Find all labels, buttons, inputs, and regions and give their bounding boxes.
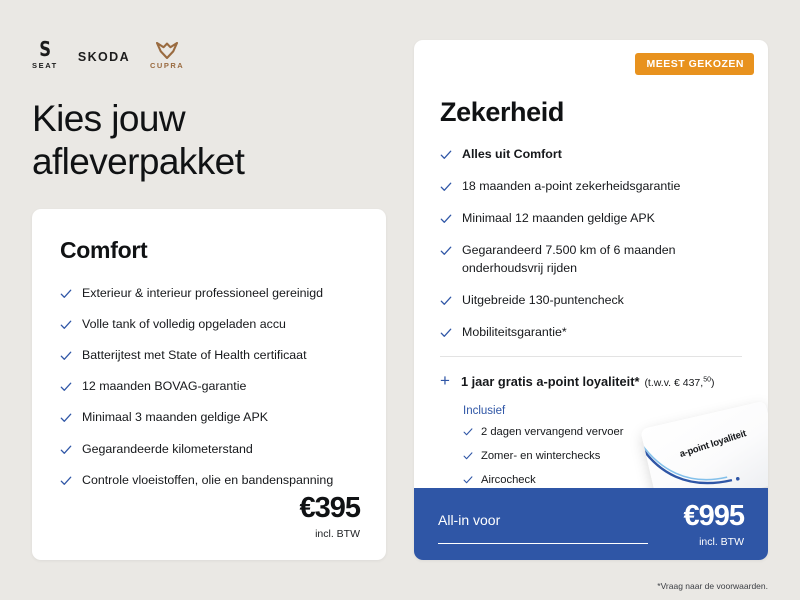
seat-mark-icon: S xyxy=(39,39,50,59)
cupra-mark-icon xyxy=(156,42,178,59)
seat-wordmark: SEAT xyxy=(32,61,58,70)
check-icon xyxy=(440,181,452,193)
page-title: Kies jouw afleverpakket xyxy=(32,97,372,184)
zekerheid-body: Alles uit Comfort18 maanden a-point zeke… xyxy=(440,146,748,522)
loyalty-value-cents: 50 xyxy=(703,377,711,384)
check-icon xyxy=(60,412,72,424)
skoda-logo: SKODA xyxy=(78,50,130,70)
check-icon xyxy=(463,475,473,485)
check-icon xyxy=(60,381,72,393)
loyalty-value-suffix: ) xyxy=(711,377,715,389)
cupra-wordmark: CUPRA xyxy=(150,61,184,70)
check-icon xyxy=(60,288,72,300)
comfort-title: Comfort xyxy=(60,237,358,264)
loyalty-label: 1 jaar gratis a-point loyaliteit* xyxy=(461,374,640,389)
loyalty-offer-row: + 1 jaar gratis a-point loyaliteit*(t.w.… xyxy=(440,371,748,391)
seat-logo: S SEAT xyxy=(32,39,58,70)
check-icon xyxy=(440,327,452,339)
list-item-label: Exterieur & interieur professioneel gere… xyxy=(82,285,323,303)
check-icon xyxy=(463,427,473,437)
allin-label: All-in voor xyxy=(438,512,500,528)
comfort-price-block: €395 incl. BTW xyxy=(299,494,360,540)
check-icon xyxy=(60,319,72,331)
divider xyxy=(440,356,742,357)
comfort-package-card[interactable]: Comfort Exterieur & interieur profession… xyxy=(32,209,386,560)
list-item-label: 18 maanden a-point zekerheidsgarantie xyxy=(462,178,680,196)
allin-price-note: incl. BTW xyxy=(699,536,744,548)
list-item-label: Volle tank of volledig opgeladen accu xyxy=(82,316,286,334)
zekerheid-feature-list: Alles uit Comfort18 maanden a-point zeke… xyxy=(440,146,748,342)
list-item: 2 dagen vervangend vervoer xyxy=(463,425,748,440)
list-item-label: 12 maanden BOVAG-garantie xyxy=(82,378,246,396)
list-item-label: Zomer- en winterchecks xyxy=(481,449,600,464)
list-item-label: Aircocheck xyxy=(481,473,536,488)
list-item: Alles uit Comfort xyxy=(440,146,748,164)
list-item: Volle tank of volledig opgeladen accu xyxy=(60,316,358,334)
list-item: Gegarandeerd 7.500 km of 6 maanden onder… xyxy=(440,242,748,277)
list-item-label: Batterijtest met State of Health certifi… xyxy=(82,347,307,365)
zekerheid-title: Zekerheid xyxy=(440,97,564,128)
list-item: Uitgebreide 130-puntencheck xyxy=(440,292,748,310)
list-item-label: Alles uit Comfort xyxy=(462,146,562,164)
list-item: Batterijtest met State of Health certifi… xyxy=(60,347,358,365)
list-item-label: Minimaal 12 maanden geldige APK xyxy=(462,210,655,228)
inclusief-title: Inclusief xyxy=(463,405,748,417)
list-item: Controle vloeistoffen, olie en bandenspa… xyxy=(60,472,358,490)
list-item-label: Gegarandeerde kilometerstand xyxy=(82,441,253,459)
list-item: Minimaal 12 maanden geldige APK xyxy=(440,210,748,228)
list-item: Gegarandeerde kilometerstand xyxy=(60,441,358,459)
list-item-label: Controle vloeistoffen, olie en bandenspa… xyxy=(82,472,333,490)
list-item-label: 2 dagen vervangend vervoer xyxy=(481,425,623,440)
loyalty-value-prefix: (t.w.v. € 437, xyxy=(644,377,703,389)
list-item: Mobiliteitsgarantie* xyxy=(440,324,748,342)
list-item: Minimaal 3 maanden geldige APK xyxy=(60,409,358,427)
list-item-label: Minimaal 3 maanden geldige APK xyxy=(82,409,268,427)
allin-price-footer: All-in voor €995 incl. BTW xyxy=(414,488,768,560)
list-item: 12 maanden BOVAG-garantie xyxy=(60,378,358,396)
list-item-label: Mobiliteitsgarantie* xyxy=(462,324,567,342)
check-icon xyxy=(440,245,452,257)
allin-price: €995 xyxy=(683,502,744,531)
list-item-label: Uitgebreide 130-puntencheck xyxy=(462,292,624,310)
plus-icon: + xyxy=(440,372,450,389)
cupra-logo: CUPRA xyxy=(150,42,184,70)
status-badge-most-chosen: MEEST GEKOZEN xyxy=(635,53,754,75)
loyalty-value: (t.w.v. € 437,50) xyxy=(644,377,714,389)
brand-logos: S SEAT SKODA CUPRA xyxy=(32,36,184,70)
comfort-price-note: incl. BTW xyxy=(299,528,360,540)
check-icon xyxy=(463,451,473,461)
zekerheid-package-card[interactable]: MEEST GEKOZEN Zekerheid Alles uit Comfor… xyxy=(414,40,768,560)
list-item: Exterieur & interieur professioneel gere… xyxy=(60,285,358,303)
comfort-feature-list: Exterieur & interieur professioneel gere… xyxy=(60,285,358,489)
list-item-label: Gegarandeerd 7.500 km of 6 maanden onder… xyxy=(462,242,748,277)
list-item: 18 maanden a-point zekerheidsgarantie xyxy=(440,178,748,196)
comfort-price: €395 xyxy=(299,494,360,523)
list-item: Aircocheck xyxy=(463,473,748,488)
footnote: *Vraag naar de voorwaarden. xyxy=(657,581,768,591)
left-column: S SEAT SKODA CUPRA Kies jouw afleverpakk… xyxy=(0,0,400,600)
allin-rule xyxy=(438,543,648,544)
check-icon xyxy=(60,444,72,456)
list-item: Zomer- en winterchecks xyxy=(463,449,748,464)
check-icon xyxy=(60,475,72,487)
check-icon xyxy=(440,213,452,225)
check-icon xyxy=(440,295,452,307)
check-icon xyxy=(60,350,72,362)
check-icon xyxy=(440,149,452,161)
